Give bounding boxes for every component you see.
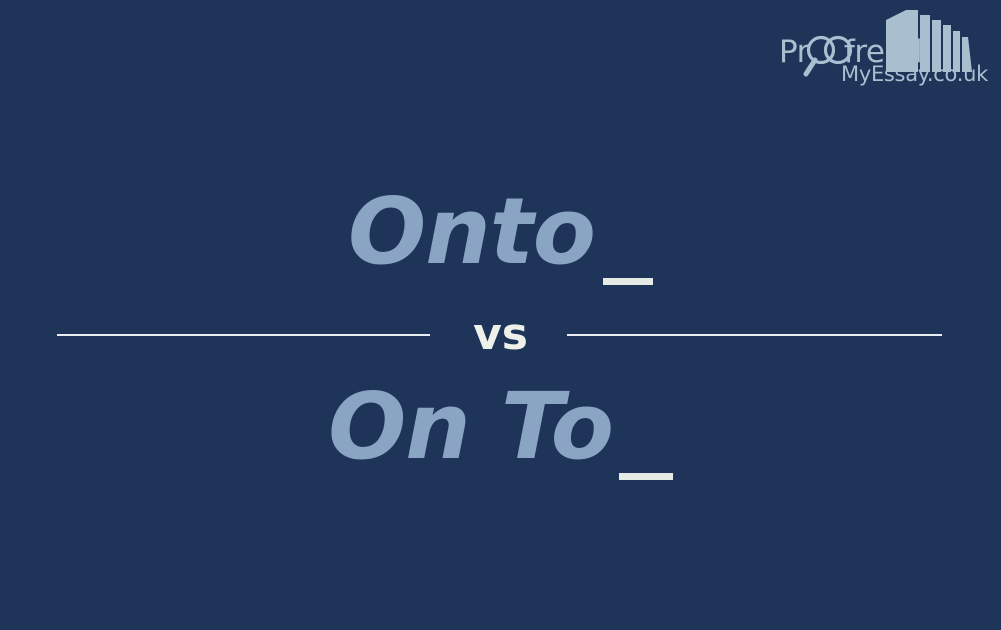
term-top-inner: Onto [348, 186, 653, 278]
term-bottom-blank [619, 473, 673, 480]
term-top-blank [603, 278, 653, 285]
comparison-graphic: Onto vs On To [0, 0, 1001, 630]
term-top-label: Onto [348, 178, 595, 285]
term-bottom-inner: On To [328, 381, 673, 473]
versus-label: vs [0, 306, 1001, 364]
term-top: Onto [0, 186, 1001, 278]
term-bottom-label: On To [328, 373, 613, 480]
versus-row: vs [0, 306, 1001, 366]
term-bottom: On To [0, 381, 1001, 473]
